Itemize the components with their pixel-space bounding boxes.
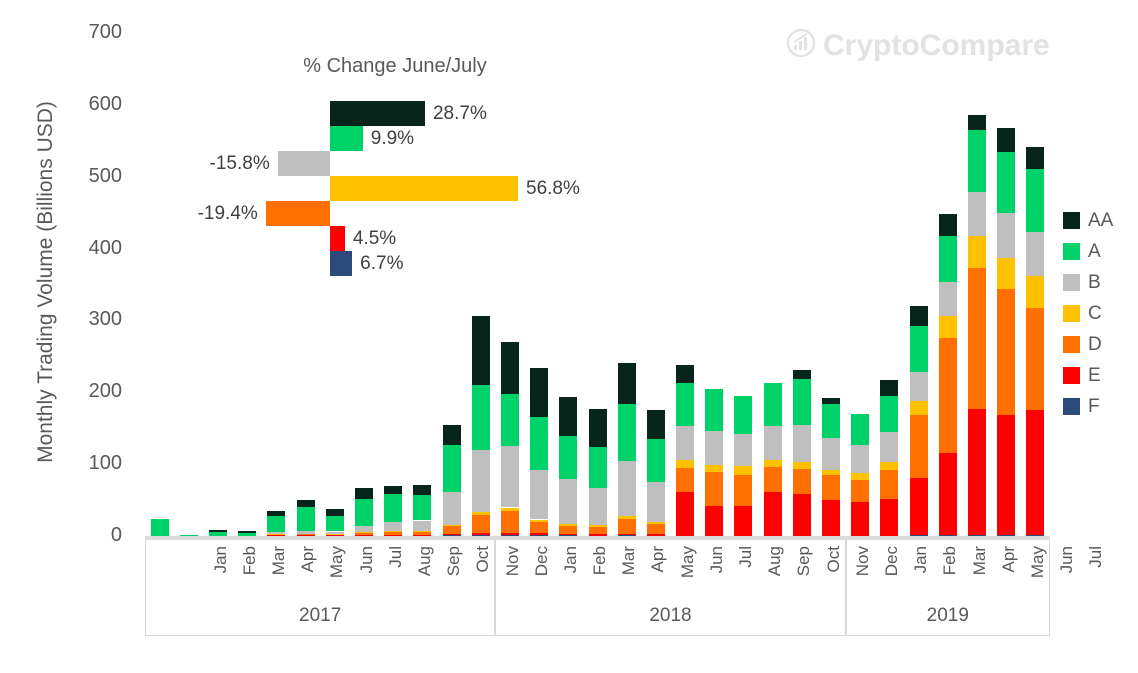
bar-segment-AA — [822, 398, 840, 404]
bar-segment-AA — [589, 409, 607, 447]
bar-segment-A — [822, 404, 840, 438]
bar-segment-B — [734, 434, 752, 466]
bar-segment-A — [472, 385, 490, 450]
bar-segment-E — [939, 453, 957, 536]
bar-segment-AA — [238, 531, 256, 533]
inset-title: % Change June/July — [185, 55, 605, 78]
stacked-bar — [764, 30, 782, 536]
bar-segment-D — [355, 533, 373, 535]
year-group-2017: JanFebMarAprMayJunJulAugSepOctNovDec2017 — [145, 540, 495, 636]
y-axis-tick: 300 — [66, 309, 122, 329]
bar-segment-B — [764, 426, 782, 460]
bar-segment-E — [443, 534, 461, 535]
bar-segment-E — [793, 494, 811, 536]
month-tick-label: Feb — [942, 546, 958, 606]
bar-segment-E — [968, 409, 986, 535]
bar-segment-C — [705, 465, 723, 471]
legend-item-C[interactable]: C — [1063, 298, 1133, 329]
stacked-bar — [822, 30, 840, 536]
bar-segment-E — [851, 502, 869, 536]
bar-segment-C — [413, 531, 431, 532]
bar-segment-AA — [968, 115, 986, 129]
bar-segment-E — [734, 506, 752, 535]
legend-swatch-icon — [1063, 305, 1080, 322]
bar-segment-B — [997, 213, 1015, 258]
month-tick-label: Feb — [592, 546, 608, 606]
bar-segment-D — [443, 526, 461, 534]
inset-bar-A — [330, 126, 363, 151]
bar-segment-D — [647, 524, 665, 534]
bar-segment-E — [530, 533, 548, 535]
bar-segment-B — [297, 531, 315, 534]
legend-swatch-icon — [1063, 367, 1080, 384]
bar-segment-E — [589, 534, 607, 535]
bar-segment-B — [676, 426, 694, 460]
bar-segment-AA — [267, 511, 285, 516]
month-tick-label: Oct — [826, 546, 842, 606]
legend-label: A — [1088, 242, 1101, 261]
bar-segment-B — [618, 461, 636, 516]
stacked-bar — [880, 30, 898, 536]
bar-segment-C — [559, 524, 577, 526]
bar-segment-AA — [384, 486, 402, 495]
bar-segment-D — [472, 515, 490, 533]
bar-segment-A — [968, 130, 986, 192]
bar-segment-B — [472, 450, 490, 512]
stacked-bar — [676, 30, 694, 536]
stacked-bar — [151, 30, 169, 536]
month-tick-label: Jun — [1059, 546, 1075, 606]
bar-segment-AA — [647, 410, 665, 439]
inset-value-label: -15.8% — [210, 151, 270, 176]
watermark-text: CryptoCompare — [823, 29, 1050, 63]
bar-segment-C — [793, 462, 811, 469]
stacked-bar — [793, 30, 811, 536]
inset-bar-D — [266, 201, 330, 226]
year-label: 2018 — [496, 605, 844, 627]
bar-segment-AA — [326, 509, 344, 517]
month-tick-label: Jun — [359, 546, 375, 606]
bar-segment-B — [501, 446, 519, 507]
bar-segment-A — [238, 533, 256, 536]
bar-segment-E — [997, 415, 1015, 535]
bar-segment-B — [910, 372, 928, 401]
bar-segment-B — [355, 526, 373, 532]
legend-label: F — [1088, 397, 1100, 416]
month-tick-label: Apr — [650, 546, 666, 606]
bar-segment-AA — [297, 500, 315, 507]
legend-item-A[interactable]: A — [1063, 236, 1133, 267]
bar-segment-AA — [530, 368, 548, 417]
y-axis-tick: 100 — [66, 453, 122, 473]
bar-segment-C — [764, 460, 782, 466]
month-tick-label: Sep — [446, 546, 462, 606]
legend-swatch-icon — [1063, 212, 1080, 229]
bar-segment-E — [822, 500, 840, 536]
inset-value-label: 4.5% — [353, 226, 396, 251]
legend-swatch-icon — [1063, 398, 1080, 415]
inset-value-label: 28.7% — [433, 101, 487, 126]
bar-segment-A — [880, 396, 898, 432]
bar-segment-A — [267, 516, 285, 532]
inset-value-label: -19.4% — [198, 201, 258, 226]
stacked-bar — [705, 30, 723, 536]
bar-segment-A — [501, 394, 519, 446]
bar-segment-D — [764, 467, 782, 493]
year-label: 2019 — [847, 605, 1049, 627]
bar-segment-C — [443, 525, 461, 527]
year-group-2019: JanFebMarAprMayJunJul2019 — [846, 540, 1050, 636]
bar-segment-B — [939, 282, 957, 316]
bar-segment-C — [939, 316, 957, 338]
bar-segment-C — [851, 473, 869, 479]
month-tick-label: May — [1030, 546, 1046, 606]
bar-segment-D — [910, 415, 928, 478]
inset-percent-change-chart: % Change June/July 28.7%9.9%-15.8%56.8%-… — [185, 55, 605, 285]
legend-item-D[interactable]: D — [1063, 329, 1133, 360]
bar-segment-A — [297, 507, 315, 531]
bar-segment-E — [1026, 410, 1044, 535]
bar-segment-AA — [676, 365, 694, 382]
bar-segment-D — [939, 338, 957, 453]
bar-segment-D — [880, 470, 898, 499]
y-axis-tick: 400 — [66, 238, 122, 258]
month-tick-label: Mar — [621, 546, 637, 606]
legend: AAABCDEF — [1063, 205, 1133, 422]
bar-segment-A — [910, 326, 928, 373]
inset-bar-F — [330, 251, 352, 276]
bar-segment-A — [618, 404, 636, 461]
month-tick-label: Oct — [475, 546, 491, 606]
bar-segment-D — [559, 526, 577, 534]
month-tick-label: Jan — [563, 546, 579, 606]
bar-segment-C — [676, 460, 694, 468]
inset-bar-B — [278, 151, 330, 176]
y-axis-tick: 700 — [66, 22, 122, 42]
inset-bar-E — [330, 226, 345, 251]
bar-segment-D — [530, 522, 548, 533]
bar-segment-B — [880, 432, 898, 462]
bar-segment-E — [472, 533, 490, 535]
bar-segment-D — [297, 534, 315, 535]
bar-segment-AA — [910, 306, 928, 326]
bar-segment-E — [764, 492, 782, 535]
bar-segment-AA — [355, 488, 373, 499]
bar-segment-C — [997, 258, 1015, 290]
bar-segment-A — [764, 383, 782, 425]
month-tick-label: Feb — [242, 546, 258, 606]
bar-segment-A — [705, 389, 723, 431]
bar-segment-A — [851, 414, 869, 446]
stacked-bar — [851, 30, 869, 536]
bar-segment-D — [589, 527, 607, 534]
bar-segment-B — [647, 482, 665, 522]
bar-segment-E — [880, 499, 898, 536]
bar-segment-B — [559, 479, 577, 524]
bar-segment-D — [997, 289, 1015, 415]
y-axis-tick: 600 — [66, 94, 122, 114]
month-tick-label: Mar — [271, 546, 287, 606]
y-axis-tick: 200 — [66, 381, 122, 401]
bar-segment-A — [793, 379, 811, 425]
year-group-2018: JanFebMarAprMayJunJulAugSepOctNovDec2018 — [495, 540, 845, 636]
bar-segment-C — [501, 508, 519, 512]
bar-segment-B — [384, 522, 402, 531]
bar-segment-AA — [880, 380, 898, 396]
bar-segment-A — [384, 494, 402, 521]
month-tick-label: May — [680, 546, 696, 606]
bar-segment-AA — [618, 363, 636, 403]
legend-swatch-icon — [1063, 274, 1080, 291]
bar-segment-AA — [472, 316, 490, 385]
bar-segment-AA — [1026, 147, 1044, 169]
bar-segment-D — [851, 480, 869, 502]
bar-segment-A — [647, 439, 665, 482]
bar-segment-B — [705, 431, 723, 465]
bar-segment-AA — [939, 214, 957, 236]
bar-segment-B — [530, 470, 548, 520]
y-axis-tick: 500 — [66, 166, 122, 186]
stacked-bar — [997, 30, 1015, 536]
y-axis-tick: 0 — [66, 525, 122, 545]
legend-label: B — [1088, 273, 1101, 292]
month-tick-label: Jan — [913, 546, 929, 606]
inset-bar-C — [330, 176, 518, 201]
stacked-bar — [647, 30, 665, 536]
bar-segment-AA — [997, 128, 1015, 152]
bar-segment-D — [501, 511, 519, 533]
stacked-bar — [939, 30, 957, 536]
month-tick-label: Jun — [709, 546, 725, 606]
bar-segment-A — [734, 396, 752, 435]
inset-value-label: 9.9% — [371, 126, 414, 151]
bar-segment-A — [443, 445, 461, 492]
bar-segment-A — [326, 516, 344, 531]
year-label: 2017 — [146, 605, 494, 627]
month-tick-label: Mar — [972, 546, 988, 606]
bar-segment-D — [413, 532, 431, 535]
legend-item-E[interactable]: E — [1063, 360, 1133, 391]
bar-segment-AA — [209, 530, 227, 532]
bar-segment-C — [647, 522, 665, 524]
bar-segment-D — [705, 472, 723, 506]
bar-segment-D — [1026, 308, 1044, 410]
bar-segment-D — [676, 468, 694, 492]
legend-label: C — [1088, 304, 1102, 323]
legend-swatch-icon — [1063, 336, 1080, 353]
bar-segment-A — [676, 383, 694, 426]
bar-segment-D — [384, 532, 402, 535]
bar-segment-B — [267, 532, 285, 534]
category-axis: JanFebMarAprMayJunJulAugSepOctNovDec2017… — [145, 540, 1050, 636]
bar-segment-C — [530, 520, 548, 522]
month-tick-label: May — [329, 546, 345, 606]
bar-segment-AA — [793, 370, 811, 379]
bar-segment-A — [1026, 169, 1044, 232]
bar-segment-D — [793, 469, 811, 494]
bar-segment-E — [501, 533, 519, 536]
bar-segment-E — [910, 478, 928, 535]
bar-segment-E — [676, 492, 694, 536]
month-tick-label: Jul — [388, 546, 404, 606]
bar-segment-AA — [501, 342, 519, 394]
bar-segment-A — [180, 535, 198, 536]
bar-segment-E — [559, 534, 577, 536]
bar-segment-A — [151, 519, 169, 536]
legend-item-AA[interactable]: AA — [1063, 205, 1133, 236]
month-tick-label: Sep — [796, 546, 812, 606]
bar-segment-B — [822, 438, 840, 470]
legend-label: D — [1088, 335, 1102, 354]
bar-segment-C — [355, 532, 373, 533]
inset-bar-AA — [330, 101, 425, 126]
bar-segment-C — [880, 462, 898, 470]
bar-segment-AA — [413, 485, 431, 495]
bar-segment-A — [530, 417, 548, 470]
month-tick-label: Apr — [1001, 546, 1017, 606]
bar-segment-C — [589, 525, 607, 527]
bar-segment-B — [968, 192, 986, 237]
bar-segment-B — [589, 488, 607, 525]
bar-segment-B — [1026, 232, 1044, 277]
bar-segment-A — [413, 495, 431, 520]
bar-segment-A — [997, 152, 1015, 213]
bar-segment-D — [822, 475, 840, 499]
legend-item-B[interactable]: B — [1063, 267, 1133, 298]
bar-segment-C — [822, 470, 840, 476]
y-axis-title: Monthly Trading Volume (Billions USD) — [34, 22, 58, 542]
stacked-bar — [734, 30, 752, 536]
stacked-bar — [618, 30, 636, 536]
bar-segment-E — [647, 534, 665, 535]
bar-segment-B — [851, 445, 869, 473]
bar-segment-D — [734, 475, 752, 507]
month-tick-label: Aug — [767, 546, 783, 606]
stacked-bar — [968, 30, 986, 536]
bar-segment-C — [910, 401, 928, 415]
cryptocompare-watermark: CryptoCompare — [786, 28, 1050, 63]
bar-segment-E — [618, 534, 636, 536]
bar-segment-AA — [443, 425, 461, 445]
bar-segment-A — [355, 499, 373, 526]
legend-label: E — [1088, 366, 1101, 385]
inset-value-label: 6.7% — [360, 251, 403, 276]
bar-segment-B — [793, 425, 811, 462]
month-tick-label: Jul — [738, 546, 754, 606]
bar-segment-C — [472, 512, 490, 515]
bar-segment-C — [968, 236, 986, 268]
chart-canvas: Monthly Trading Volume (Billions USD) 01… — [0, 0, 1138, 673]
bar-segment-A — [559, 436, 577, 479]
bar-segment-B — [443, 492, 461, 525]
bar-segment-C — [1026, 276, 1044, 308]
bar-segment-C — [384, 531, 402, 532]
month-tick-label: Aug — [417, 546, 433, 606]
bar-segment-B — [326, 532, 344, 535]
legend-swatch-icon — [1063, 243, 1080, 260]
bar-segment-D — [968, 268, 986, 410]
chart-circle-logo-icon — [786, 28, 816, 63]
bar-segment-B — [413, 521, 431, 531]
bar-segment-A — [589, 447, 607, 488]
bar-segment-A — [939, 236, 957, 282]
bar-segment-A — [209, 532, 227, 536]
stacked-bar — [1026, 30, 1044, 536]
month-tick-label: Jan — [213, 546, 229, 606]
month-tick-label: Apr — [300, 546, 316, 606]
bar-segment-C — [618, 516, 636, 520]
stacked-bar — [910, 30, 928, 536]
legend-label: AA — [1088, 211, 1113, 230]
legend-item-F[interactable]: F — [1063, 391, 1133, 422]
inset-value-label: 56.8% — [526, 176, 580, 201]
month-tick-label: Jul — [1088, 546, 1104, 606]
bar-segment-AA — [559, 397, 577, 437]
bar-segment-E — [705, 506, 723, 535]
bar-segment-C — [734, 466, 752, 475]
bar-segment-D — [618, 519, 636, 533]
